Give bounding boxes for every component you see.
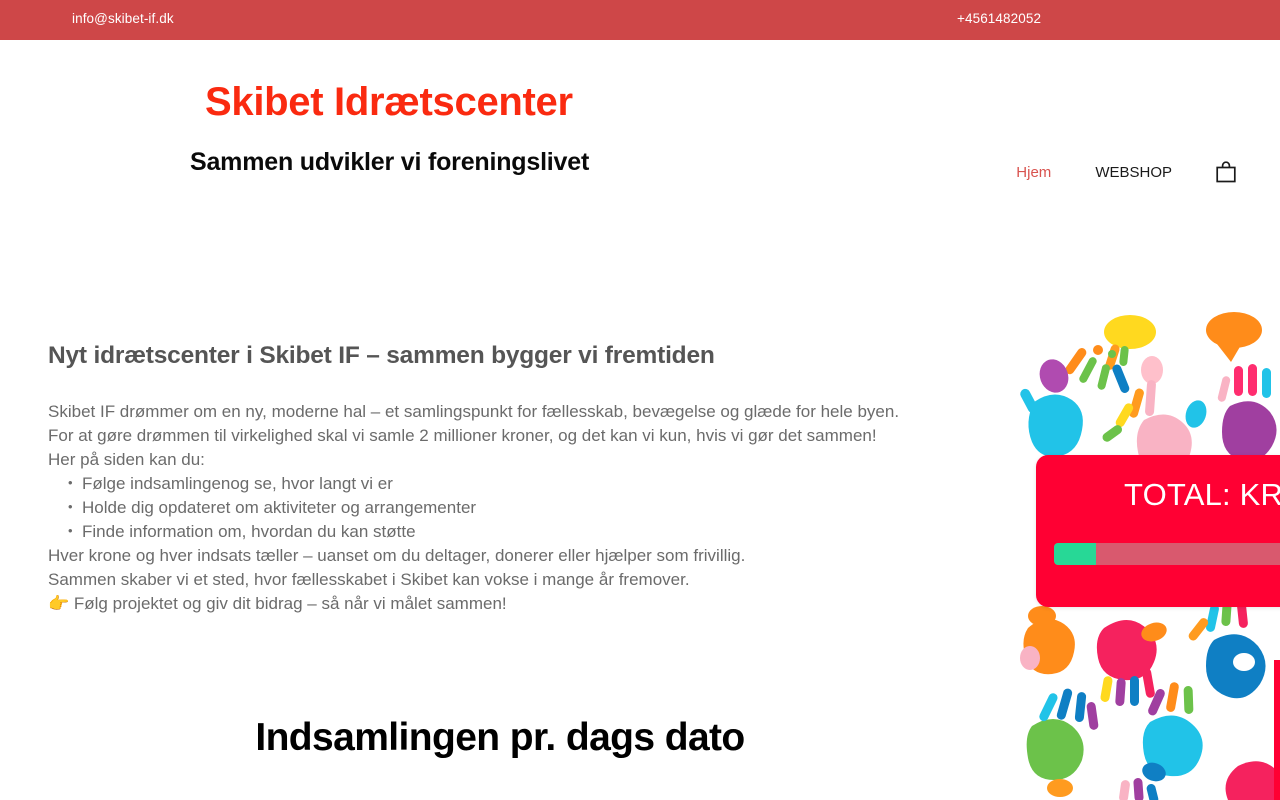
nav-item-hjem[interactable]: Hjem [994, 160, 1073, 186]
call-to-action-line: 👉 Følg projektet og giv dit bidrag – så … [48, 592, 1033, 616]
main-navigation: Hjem WEBSHOP [994, 158, 1244, 188]
list-item: Holde dig opdateret om aktiviteter og ar… [48, 496, 1033, 520]
intro-paragraph-2: For at gøre drømmen til virkelighed skal… [48, 424, 1033, 448]
page-title: Nyt idrætscenter i Skibet IF – sammen by… [48, 342, 1033, 370]
edge-red-sliver [1274, 660, 1280, 800]
brand-title[interactable]: Skibet Idrætscenter [205, 80, 573, 125]
list-item: Følge indsamlingenog se, hvor langt vi e… [48, 472, 1033, 496]
cart-button[interactable] [1208, 158, 1244, 188]
nav-item-webshop[interactable]: WEBSHOP [1073, 160, 1194, 186]
list-item: Finde information om, hvordan du kan stø… [48, 520, 1033, 544]
brand-tagline: Sammen udvikler vi foreningslivet [190, 148, 589, 177]
donation-total-card: TOTAL: KR [1036, 455, 1280, 607]
benefits-list: Følge indsamlingenog se, hvor langt vi e… [48, 472, 1033, 544]
main-content: Nyt idrætscenter i Skibet IF – sammen by… [48, 342, 1033, 616]
intro-paragraph-3: Her på siden kan du: [48, 448, 1033, 472]
closing-paragraph-2: Sammen skaber vi et sted, hvor fællesska… [48, 568, 1033, 592]
donation-progress-fill [1054, 543, 1096, 565]
contact-phone[interactable]: +4561482052 [957, 11, 1041, 26]
collection-section-heading: Indsamlingen pr. dags dato [0, 716, 1000, 760]
top-contact-bar: info@skibet-if.dk +4561482052 [0, 0, 1280, 40]
contact-email[interactable]: info@skibet-if.dk [72, 11, 174, 26]
page-root: info@skibet-if.dk +4561482052 Skibet Idr… [0, 0, 1280, 800]
intro-paragraph-1: Skibet IF drømmer om en ny, moderne hal … [48, 400, 1008, 424]
donation-total-label: TOTAL: KR [1124, 477, 1280, 513]
shopping-bag-icon [1216, 161, 1236, 186]
donation-progress-bar [1054, 543, 1280, 565]
closing-paragraph-1: Hver krone og hver indsats tæller – uans… [48, 544, 1033, 568]
